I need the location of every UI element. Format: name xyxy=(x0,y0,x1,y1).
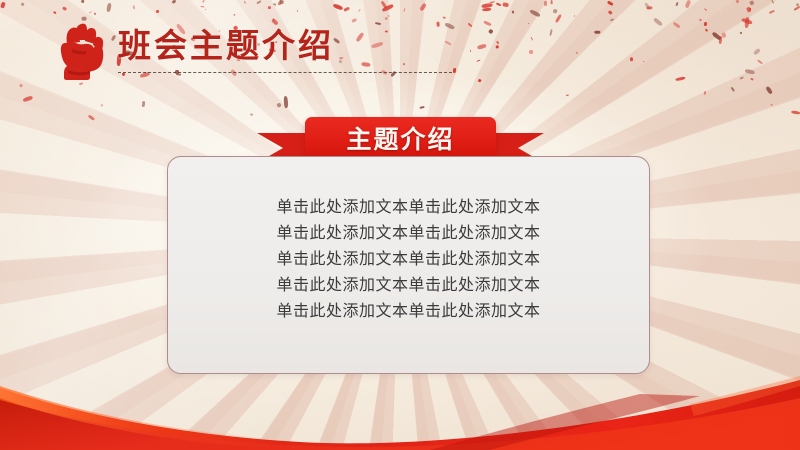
content-line: 单击此处添加文本单击此处添加文本 xyxy=(168,273,649,299)
page-title: 班会主题介绍 xyxy=(118,24,334,68)
slide-header: 班会主题介绍 xyxy=(0,0,800,95)
content-line: 单击此处添加文本单击此处添加文本 xyxy=(168,247,649,273)
content-text-block[interactable]: 单击此处添加文本单击此处添加文本单击此处添加文本单击此处添加文本单击此处添加文本… xyxy=(168,195,649,325)
content-line: 单击此处添加文本单击此处添加文本 xyxy=(168,221,649,247)
content-line: 单击此处添加文本单击此处添加文本 xyxy=(168,195,649,221)
content-card[interactable]: 单击此处添加文本单击此处添加文本单击此处添加文本单击此处添加文本单击此处添加文本… xyxy=(167,156,650,374)
content-line: 单击此处添加文本单击此处添加文本 xyxy=(168,299,649,325)
title-divider xyxy=(118,72,452,73)
raised-fist-icon xyxy=(52,18,112,80)
presentation-slide: 班会主题介绍 主题介绍 单击此处添加文本单击此处添加文本单击此处添加文本单击此处… xyxy=(0,0,800,450)
